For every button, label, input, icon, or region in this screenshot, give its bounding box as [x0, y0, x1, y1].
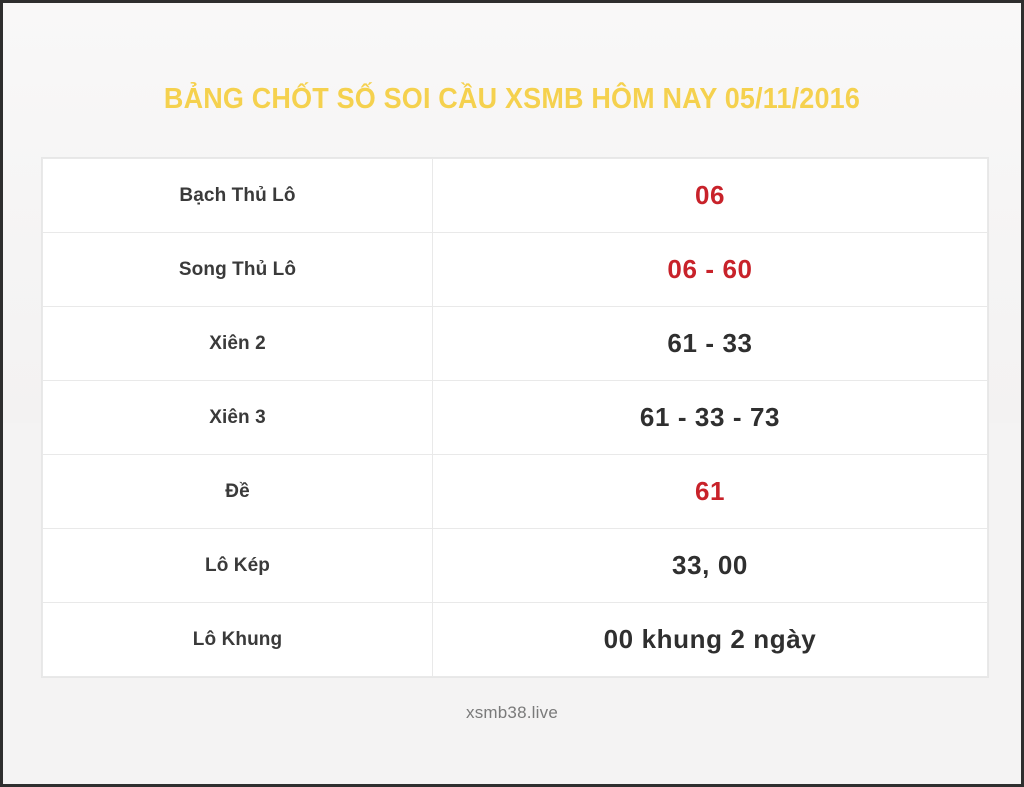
row-label: Đề [43, 455, 433, 529]
row-value: 61 - 33 [433, 307, 988, 381]
site-watermark: xsmb38.live [3, 703, 1021, 723]
screenshot-canvas: BẢNG CHỐT SỐ SOI CẦU XSMB HÔM NAY 05/11/… [0, 0, 1024, 787]
row-value: 06 [433, 159, 988, 233]
table-row: Lô Khung00 khung 2 ngày [43, 603, 988, 677]
row-value: 33, 00 [433, 529, 988, 603]
row-label: Lô Kép [43, 529, 433, 603]
page-content: BẢNG CHỐT SỐ SOI CẦU XSMB HÔM NAY 05/11/… [3, 3, 1021, 117]
page-title: BẢNG CHỐT SỐ SOI CẦU XSMB HÔM NAY 05/11/… [39, 3, 986, 117]
row-label: Lô Khung [43, 603, 433, 677]
prediction-table-body: Bạch Thủ Lô06Song Thủ Lô06 - 60Xiên 261 … [43, 159, 988, 677]
prediction-table-container: Bạch Thủ Lô06Song Thủ Lô06 - 60Xiên 261 … [42, 158, 988, 677]
table-row: Bạch Thủ Lô06 [43, 159, 988, 233]
row-value: 61 [433, 455, 988, 529]
row-value: 06 - 60 [433, 233, 988, 307]
table-row: Đề61 [43, 455, 988, 529]
table-row: Xiên 361 - 33 - 73 [43, 381, 988, 455]
row-label: Xiên 2 [43, 307, 433, 381]
row-label: Xiên 3 [43, 381, 433, 455]
row-value: 61 - 33 - 73 [433, 381, 988, 455]
table-row: Song Thủ Lô06 - 60 [43, 233, 988, 307]
row-value: 00 khung 2 ngày [433, 603, 988, 677]
row-label: Bạch Thủ Lô [43, 159, 433, 233]
table-row: Lô Kép33, 00 [43, 529, 988, 603]
table-row: Xiên 261 - 33 [43, 307, 988, 381]
row-label: Song Thủ Lô [43, 233, 433, 307]
prediction-table: Bạch Thủ Lô06Song Thủ Lô06 - 60Xiên 261 … [42, 158, 988, 677]
